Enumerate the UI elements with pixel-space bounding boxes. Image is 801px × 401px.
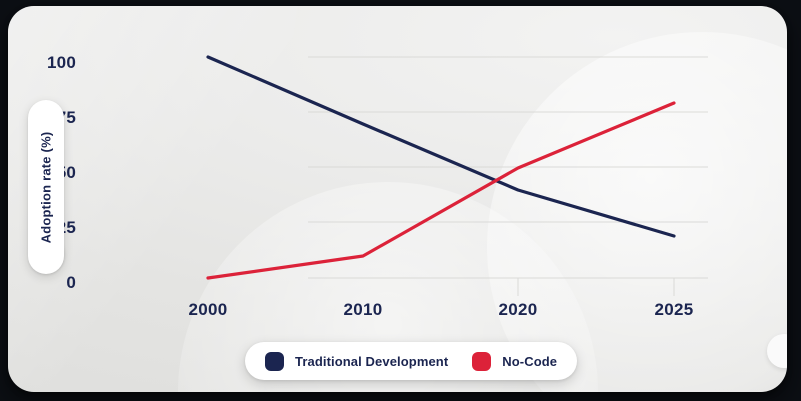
chart-card: 100 75 50 25 0 2000 2010 2020 2025 Adopt…	[8, 6, 787, 392]
y-axis-tick-0: 0	[30, 273, 76, 293]
x-axis-tick-2020: 2020	[478, 300, 558, 320]
legend-label-traditional-development: Traditional Development	[295, 354, 448, 369]
legend-item-traditional-development[interactable]: Traditional Development	[265, 352, 448, 371]
legend-label-no-code: No-Code	[502, 354, 557, 369]
legend-item-no-code[interactable]: No-Code	[472, 352, 557, 371]
x-axis-tick-2025: 2025	[634, 300, 714, 320]
screenshot-stage: 100 75 50 25 0 2000 2010 2020 2025 Adopt…	[0, 0, 801, 401]
y-axis-title-pill: Adoption rate (%)	[28, 100, 64, 274]
plot-area	[8, 6, 787, 392]
x-axis-tick-2010: 2010	[323, 300, 403, 320]
red-square-swatch-icon	[472, 352, 491, 371]
series-traditional-development	[208, 57, 674, 236]
chart-legend: Traditional Development No-Code	[245, 342, 577, 380]
y-axis-tick-100: 100	[30, 53, 76, 73]
y-axis-title: Adoption rate (%)	[39, 131, 54, 243]
navy-square-swatch-icon	[265, 352, 284, 371]
series-no-code	[208, 103, 674, 278]
gridlines	[308, 57, 708, 296]
x-axis-tick-2000: 2000	[168, 300, 248, 320]
